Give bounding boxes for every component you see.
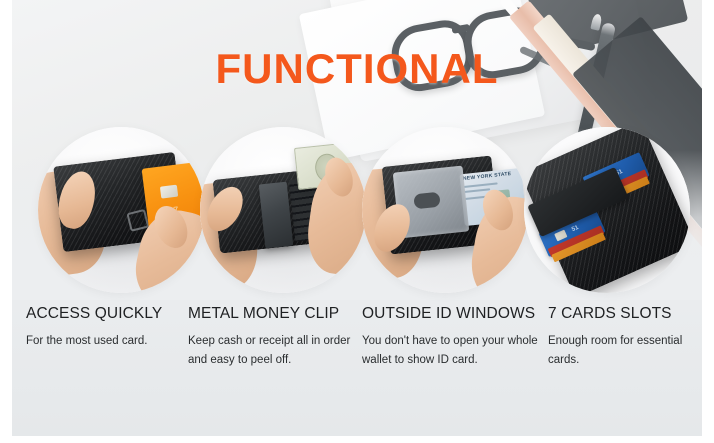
- feature-column-outside-id-windows: OUTSIDE ID WINDOWS You don't have to ope…: [362, 305, 548, 370]
- feature-title: OUTSIDE ID WINDOWS: [362, 305, 548, 323]
- feature-photos-row: 4587 06/22: [12, 126, 702, 294]
- feature-photo-outside-id-windows: NEW YORK STATE: [362, 127, 528, 293]
- feature-column-access-quickly: ACCESS QUICKLY For the most used card.: [26, 305, 202, 351]
- feature-description: Enough room for essential cards.: [548, 332, 702, 370]
- feature-text-row: ACCESS QUICKLY For the most used card. M…: [12, 305, 702, 405]
- feature-description: You don't have to open your whole wallet…: [362, 332, 548, 370]
- feature-description: Keep cash or receipt all in order and ea…: [188, 332, 364, 370]
- feature-title: 7 CARDS SLOTS: [548, 305, 702, 323]
- infographic-panel: FUNCTIONAL 4587 06/22: [12, 0, 702, 436]
- feature-photo-metal-money-clip: [200, 127, 366, 293]
- id-card-text-line: [464, 182, 498, 188]
- functional-infographic: FUNCTIONAL 4587 06/22: [0, 0, 714, 443]
- feature-title: METAL MONEY CLIP: [188, 305, 364, 323]
- feature-title: ACCESS QUICKLY: [26, 305, 202, 323]
- id-card-header: NEW YORK STATE: [463, 171, 512, 182]
- feature-photo-7-cards-slots: 51 51: [524, 127, 690, 293]
- card-chip-icon: [160, 185, 178, 199]
- page-title: FUNCTIONAL: [12, 45, 702, 93]
- feature-photo-access-quickly: 4587 06/22: [38, 127, 204, 293]
- card-chip-icon: [554, 230, 567, 242]
- card-brand-mark: 51: [571, 225, 580, 233]
- feature-column-metal-money-clip: METAL MONEY CLIP Keep cash or receipt al…: [188, 305, 364, 370]
- feature-column-7-cards-slots: 7 CARDS SLOTS Enough room for essential …: [548, 305, 702, 370]
- feature-description: For the most used card.: [26, 332, 202, 351]
